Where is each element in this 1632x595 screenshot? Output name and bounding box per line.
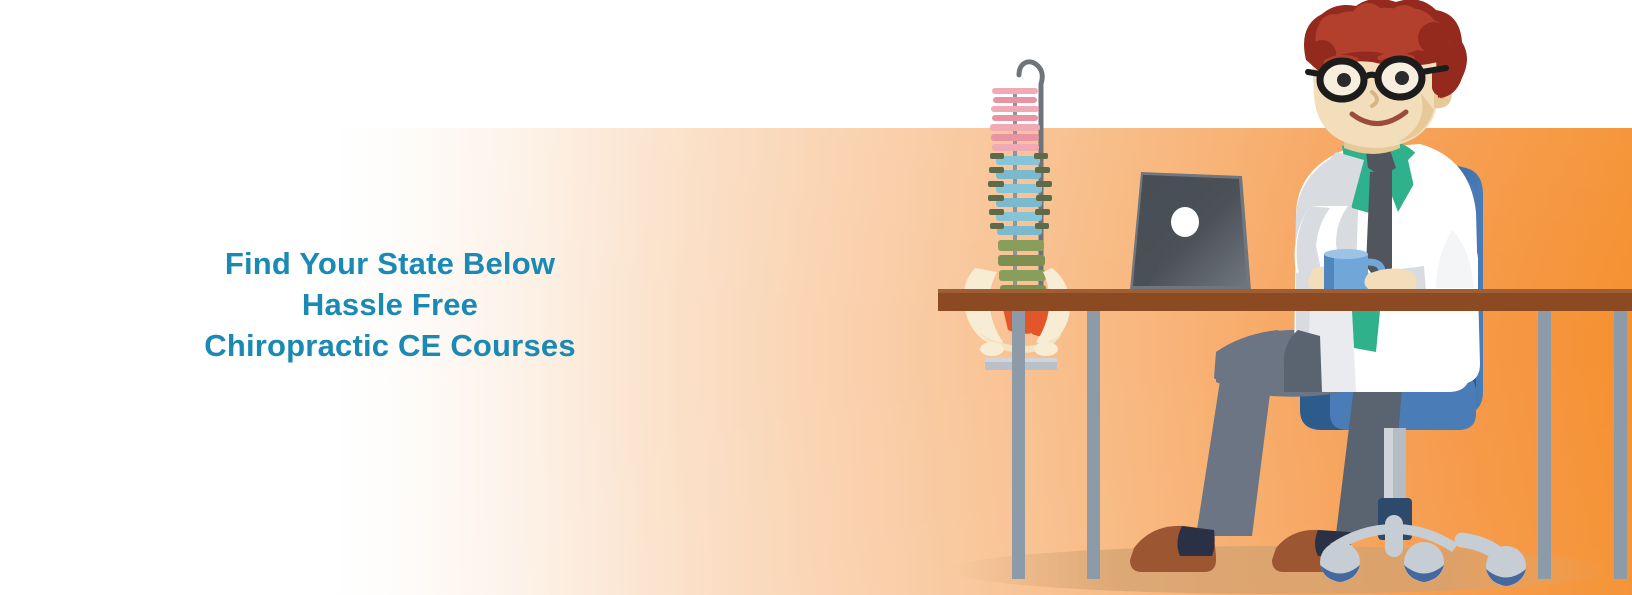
chiropractor-coat-tail [1284,311,1470,392]
desk-leg-right [1538,311,1551,579]
leg-near-shin [1196,362,1274,536]
chair-caster-mid [1404,542,1444,582]
laptop-logo-icon [1171,207,1199,237]
headline-line-3: Chiropractic CE Courses [90,325,690,366]
headline-line-1: Find Your State Below [90,243,690,284]
chair-caster-left [1320,542,1360,582]
desk-leg-left [1012,311,1025,579]
desk-leg-far-right [1614,311,1627,579]
headline-line-2: Hassle Free [90,284,690,325]
desk-leg-mid [1087,311,1100,579]
eye-left [1337,73,1351,87]
laptop [1114,172,1268,302]
promo-banner: Find Your State Below Hassle Free Chirop… [0,0,1632,595]
headline-block: Find Your State Below Hassle Free Chirop… [90,243,690,366]
chair-caster-right [1486,546,1526,586]
desk-front-edge [938,289,1632,311]
eye-right [1395,71,1409,85]
